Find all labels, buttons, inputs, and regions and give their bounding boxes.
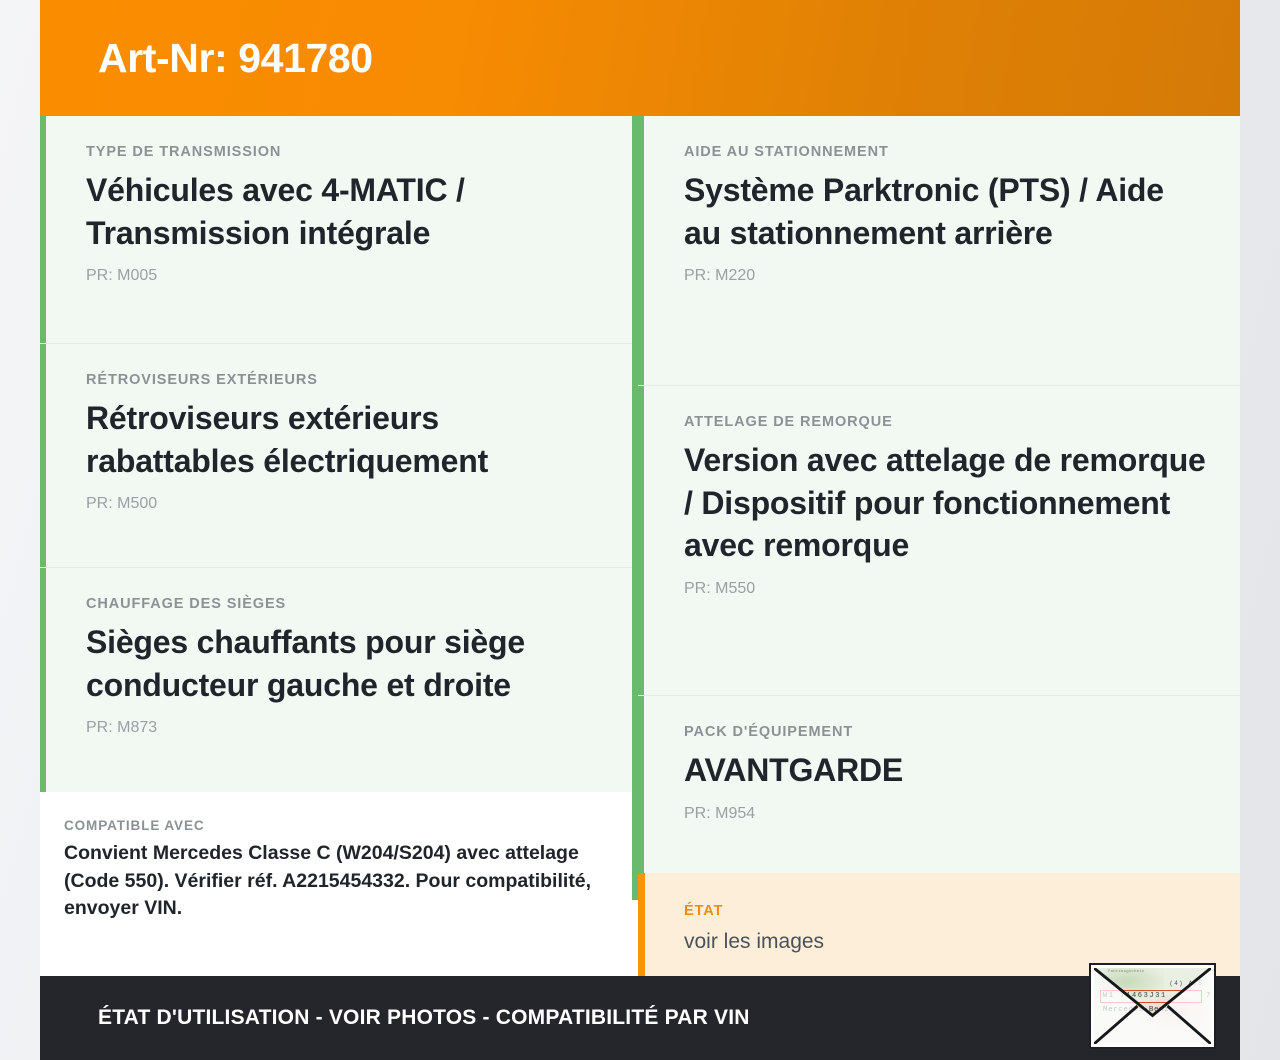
spec-pr-code: PR: M954 [684,804,1206,823]
spec-value: AVANTGARDE [684,749,1206,792]
left-column: TYPE DE TRANSMISSION Véhicules avec 4-MA… [40,116,638,976]
spec-card-trailer-hitch: ATTELAGE DE REMORQUE Version avec attela… [638,386,1240,696]
compatibility-label: COMPATIBLE AVEC [64,818,598,833]
compatibility-text: Convient Mercedes Classe C (W204/S204) a… [64,840,598,923]
spec-card-parking-aid: AIDE AU STATIONNEMENT Système Parktronic… [638,116,1240,386]
article-number: Art-Nr: 941780 [98,38,373,79]
spec-pr-code: PR: M500 [86,494,604,513]
condition-value: voir les images [684,929,1206,955]
spec-pr-code: PR: M220 [684,266,1206,285]
spec-label: RÉTROVISEURS EXTÉRIEURS [86,372,604,389]
spec-columns: TYPE DE TRANSMISSION Véhicules avec 4-MA… [40,116,1240,976]
spec-card-seat-heating: CHAUFFAGE DES SIÈGES Sièges chauffants p… [40,568,638,792]
spec-value: Sièges chauffants pour siège conducteur … [86,621,604,706]
spec-label: AIDE AU STATIONNEMENT [684,144,1206,161]
spec-pr-code: PR: M005 [86,266,604,285]
spec-value: Système Parktronic (PTS) / Aide au stati… [684,169,1206,254]
header-banner: Art-Nr: 941780 [40,0,1240,116]
spec-label: PACK D'ÉQUIPEMENT [684,724,1206,741]
condition-label: ÉTAT [684,903,1206,919]
product-sheet: Art-Nr: 941780 TYPE DE TRANSMISSION Véhi… [40,0,1240,1060]
spec-value: Version avec attelage de remorque / Disp… [684,439,1206,567]
spec-card-transmission: TYPE DE TRANSMISSION Véhicules avec 4-MA… [40,116,638,344]
spec-card-mirrors: RÉTROVISEURS EXTÉRIEURS Rétroviseurs ext… [40,344,638,568]
spec-label: CHAUFFAGE DES SIÈGES [86,596,604,613]
right-column: AIDE AU STATIONNEMENT Système Parktronic… [638,116,1240,976]
spec-label: ATTELAGE DE REMORQUE [684,414,1206,431]
vin-envelope-badge: Fahrzeugschein (4) A.5 W1 71463J31 7 Mer… [1089,963,1216,1049]
spec-pr-code: PR: M873 [86,718,604,737]
spec-value: Rétroviseurs extérieurs rabattables élec… [86,397,604,482]
spec-value: Véhicules avec 4-MATIC / Transmission in… [86,169,604,254]
envelope-icon [1094,968,1211,1044]
spec-card-equipment-pack: PACK D'ÉQUIPEMENT AVANTGARDE PR: M954 [638,696,1240,873]
footer-banner: ÉTAT D'UTILISATION - VOIR PHOTOS - COMPA… [40,976,1240,1060]
footer-text: ÉTAT D'UTILISATION - VOIR PHOTOS - COMPA… [98,1006,750,1030]
spec-pr-code: PR: M550 [684,579,1206,598]
spec-label: TYPE DE TRANSMISSION [86,144,604,161]
compatibility-card: COMPATIBLE AVEC Convient Mercedes Classe… [40,792,638,976]
